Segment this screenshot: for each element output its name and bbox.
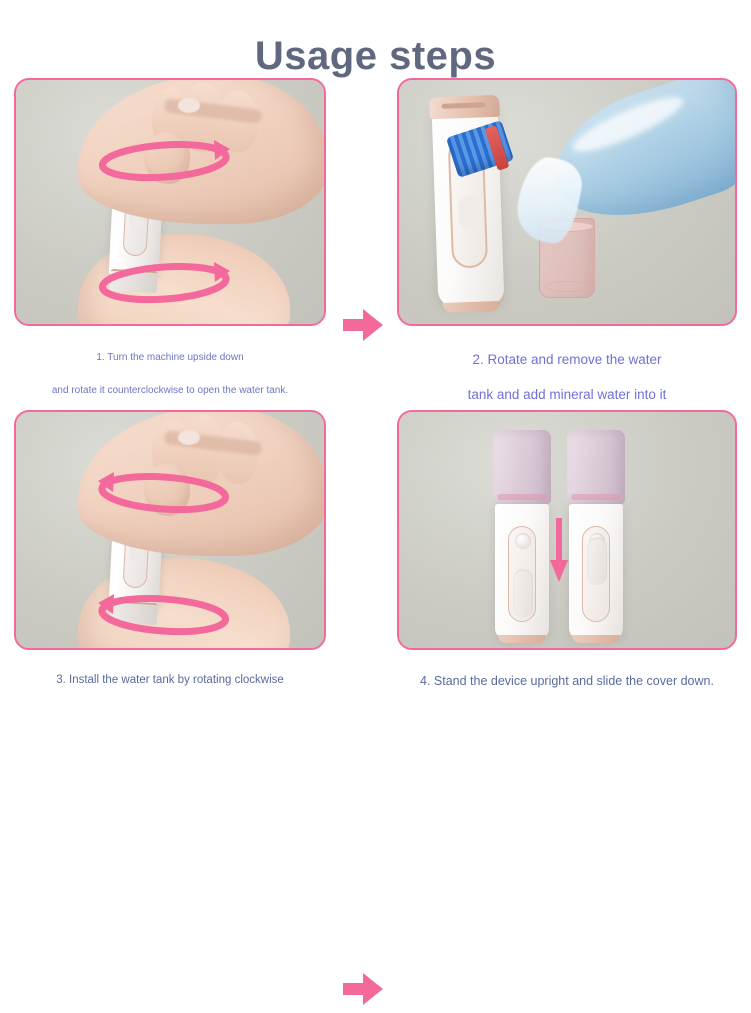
step-1-caption-line-1: 1. Turn the machine upside down — [96, 352, 243, 363]
rotation-arrow-cw-top-icon — [74, 466, 254, 512]
step-2-caption: 2. Rotate and remove the water tank and … — [397, 350, 737, 406]
slide-cover-down-arrow-icon — [549, 518, 569, 584]
bottle-highlight — [568, 88, 688, 161]
step-4-caption-line-1: 4. Stand the device upright and slide th… — [420, 674, 714, 688]
device-base — [498, 635, 546, 643]
step-2-photo — [397, 78, 737, 326]
device-base — [442, 301, 500, 313]
step-4-caption: 4. Stand the device upright and slide th… — [397, 672, 737, 691]
slide-cover — [513, 569, 533, 617]
device-base — [572, 635, 620, 643]
step-3-caption-line-1: 3. Install the water tank by rotating cl… — [56, 674, 284, 686]
nano-mister-device — [567, 430, 625, 640]
device-slot — [508, 526, 536, 622]
upright-devices-scene — [399, 412, 735, 648]
filling-water-tank-scene — [399, 80, 735, 324]
step-1-to-2-arrow-icon — [341, 306, 385, 344]
device-clear-cap — [567, 430, 625, 504]
slide-cover — [587, 537, 607, 585]
steps-row-bottom: 3. Install the water tank by rotating cl… — [0, 410, 751, 710]
step-2-cell: 2. Rotate and remove the water tank and … — [397, 78, 737, 406]
usage-steps-grid: 1. Turn the machine upside down and rota… — [0, 78, 751, 710]
rotation-arrow-ccw-top-icon — [74, 134, 254, 180]
nano-mister-device — [493, 430, 551, 640]
step-1-caption-line-2: and rotate it counterclockwise to open t… — [14, 383, 326, 399]
page-title: Usage steps — [0, 0, 751, 78]
fingernail — [178, 430, 200, 445]
device-body — [495, 504, 549, 640]
device-clear-cap — [493, 430, 551, 504]
step-4-cell: 4. Stand the device upright and slide th… — [397, 410, 737, 691]
step-1-cell: 1. Turn the machine upside down and rota… — [14, 78, 326, 398]
steps-row-top: 1. Turn the machine upside down and rota… — [0, 78, 751, 410]
hand-rotating-device-scene — [16, 80, 324, 324]
device-slot — [582, 526, 610, 622]
device-body — [569, 504, 623, 640]
rotation-arrow-ccw-bottom-icon — [74, 256, 254, 302]
step-2-caption-line-2: tank and add mineral water into it — [397, 385, 737, 406]
step-1-caption: 1. Turn the machine upside down and rota… — [14, 350, 326, 398]
device-cap — [429, 95, 500, 119]
hand-rotating-device-scene — [16, 412, 324, 648]
device-button — [515, 533, 531, 549]
step-1-photo — [14, 78, 326, 326]
rotation-arrow-cw-bottom-icon — [74, 588, 254, 634]
step-3-to-4-arrow-icon — [341, 970, 385, 1008]
step-4-photo — [397, 410, 737, 650]
fingernail — [178, 98, 200, 113]
step-3-caption: 3. Install the water tank by rotating cl… — [14, 672, 326, 690]
step-3-photo — [14, 410, 326, 650]
step-2-caption-line-1: 2. Rotate and remove the water — [472, 352, 661, 367]
step-3-cell: 3. Install the water tank by rotating cl… — [14, 410, 326, 690]
